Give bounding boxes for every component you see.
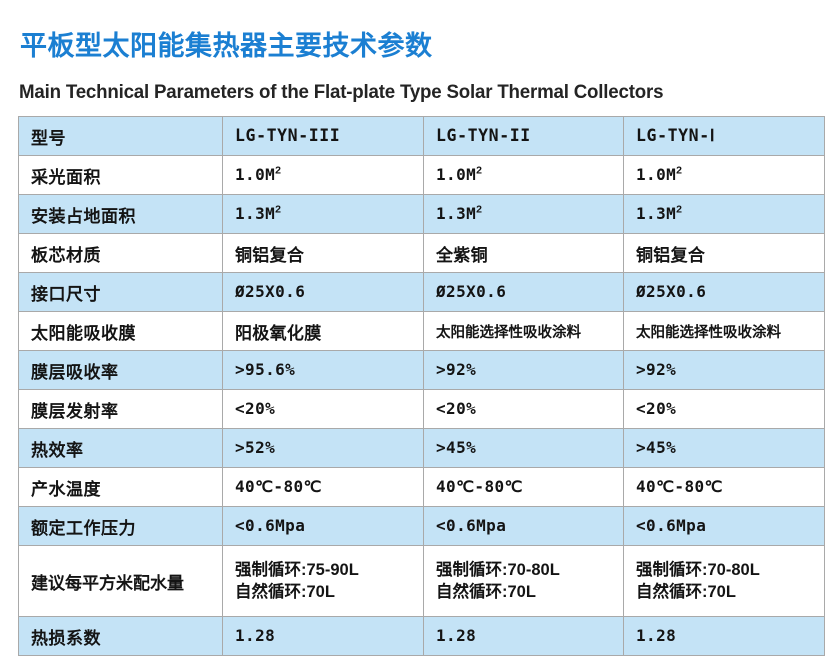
table-row: 产水温度40℃-80℃40℃-80℃40℃-80℃ (19, 468, 825, 507)
cell-value: >92% (424, 351, 624, 390)
row-label: 板芯材质 (19, 234, 223, 273)
value-text: 1.28 (235, 626, 275, 645)
table-row: 采光面积1.0M21.0M21.0M2 (19, 156, 825, 195)
row-label: 太阳能吸收膜 (19, 312, 223, 351)
page-title-cn: 平板型太阳能集热器主要技术参数 (20, 30, 433, 62)
page-root: 平板型太阳能集热器主要技术参数 Main Technical Parameter… (0, 0, 832, 652)
value-text: >45% (636, 438, 676, 457)
cell-value: 阳极氧化膜 (223, 312, 424, 351)
table-row: 板芯材质铜铝复合全紫铜铜铝复合 (19, 234, 825, 273)
cell-value: 40℃-80℃ (624, 468, 825, 507)
cell-value: Ø25X0.6 (424, 273, 624, 312)
value-text: 40℃-80℃ (636, 477, 723, 496)
row-label: 安装占地面积 (19, 195, 223, 234)
superscript-square: 2 (476, 164, 482, 176)
value-text: Ø25X0.6 (235, 282, 305, 301)
spec-table: 型号LG-TYN-IIILG-TYN-IILG-TYN-Ⅰ采光面积1.0M21.… (18, 116, 825, 656)
cell-value: 1.0M2 (223, 156, 424, 195)
row-label: 型号 (19, 117, 223, 156)
cell-line: 自然循环:70L (636, 581, 824, 603)
cell-value: LG-TYN-III (223, 117, 424, 156)
cell-base: 1.0M (636, 165, 676, 184)
cell-value: 1.0M2 (624, 156, 825, 195)
value-text: <0.6Mpa (436, 516, 506, 535)
cell-value: >52% (223, 429, 424, 468)
cell-value: 40℃-80℃ (223, 468, 424, 507)
cell-value: 强制循环:75-90L自然循环:70L (223, 546, 424, 617)
cell-line: 强制循环:70-80L (636, 559, 824, 581)
cell-value: <0.6Mpa (624, 507, 825, 546)
superscript-square: 2 (275, 203, 281, 215)
value-text: 40℃-80℃ (436, 477, 523, 496)
cell-value: >92% (624, 351, 825, 390)
cell-value: >95.6% (223, 351, 424, 390)
cell-value: <0.6Mpa (424, 507, 624, 546)
value-text: Ø25X0.6 (636, 282, 706, 301)
model-code: LG-TYN-II (436, 126, 531, 145)
cell-base: 1.3M (235, 204, 275, 223)
cell-value: >45% (424, 429, 624, 468)
model-code: LG-TYN-Ⅰ (636, 126, 715, 145)
cell-value: LG-TYN-II (424, 117, 624, 156)
spec-table-container: 型号LG-TYN-IIILG-TYN-IILG-TYN-Ⅰ采光面积1.0M21.… (18, 116, 824, 656)
row-label: 膜层吸收率 (19, 351, 223, 390)
cell-value: 全紫铜 (424, 234, 624, 273)
superscript-square: 2 (676, 164, 682, 176)
row-label: 采光面积 (19, 156, 223, 195)
cell-value: Ø25X0.6 (223, 273, 424, 312)
cell-value: 铜铝复合 (223, 234, 424, 273)
cell-value: 1.3M2 (223, 195, 424, 234)
cell-value: 太阳能选择性吸收涂料 (424, 312, 624, 351)
superscript-square: 2 (476, 203, 482, 215)
cell-value: <20% (624, 390, 825, 429)
row-label: 热效率 (19, 429, 223, 468)
value-text: Ø25X0.6 (436, 282, 506, 301)
value-text: >45% (436, 438, 476, 457)
cell-value: 1.28 (624, 617, 825, 656)
cell-value: <20% (223, 390, 424, 429)
cell-value: 1.28 (424, 617, 624, 656)
value-text: >52% (235, 438, 275, 457)
cell-value: <20% (424, 390, 624, 429)
table-row: 膜层发射率<20%<20%<20% (19, 390, 825, 429)
value-text: 1.28 (436, 626, 476, 645)
cell-base: 1.0M (436, 165, 476, 184)
cell-value: 1.3M2 (424, 195, 624, 234)
table-row: 热效率>52%>45%>45% (19, 429, 825, 468)
cell-value: 铜铝复合 (624, 234, 825, 273)
cell-value: >45% (624, 429, 825, 468)
cell-value: 40℃-80℃ (424, 468, 624, 507)
table-row: 膜层吸收率>95.6%>92%>92% (19, 351, 825, 390)
value-text: <0.6Mpa (636, 516, 706, 535)
table-row: 型号LG-TYN-IIILG-TYN-IILG-TYN-Ⅰ (19, 117, 825, 156)
row-label: 接口尺寸 (19, 273, 223, 312)
value-text: <0.6Mpa (235, 516, 305, 535)
cell-base: 1.0M (235, 165, 275, 184)
value-text: <20% (235, 399, 275, 418)
value-text: >92% (436, 360, 476, 379)
cell-value: 太阳能选择性吸收涂料 (624, 312, 825, 351)
cell-value: 强制循环:70-80L自然循环:70L (424, 546, 624, 617)
superscript-square: 2 (676, 203, 682, 215)
page-subtitle-en: Main Technical Parameters of the Flat-pl… (19, 82, 663, 105)
table-row: 接口尺寸Ø25X0.6Ø25X0.6Ø25X0.6 (19, 273, 825, 312)
cell-value: Ø25X0.6 (624, 273, 825, 312)
value-text: 1.28 (636, 626, 676, 645)
table-row: 太阳能吸收膜阳极氧化膜太阳能选择性吸收涂料太阳能选择性吸收涂料 (19, 312, 825, 351)
cell-value: 1.0M2 (424, 156, 624, 195)
cell-line: 自然循环:70L (235, 581, 423, 603)
cell-value: 强制循环:70-80L自然循环:70L (624, 546, 825, 617)
table-row: 建议每平方米配水量强制循环:75-90L自然循环:70L强制循环:70-80L自… (19, 546, 825, 617)
model-code: LG-TYN-III (235, 126, 340, 145)
cell-value: 1.28 (223, 617, 424, 656)
cell-value: LG-TYN-Ⅰ (624, 117, 825, 156)
cell-line: 强制循环:75-90L (235, 559, 423, 581)
row-label: 建议每平方米配水量 (19, 546, 223, 617)
value-text: >92% (636, 360, 676, 379)
spec-table-body: 型号LG-TYN-IIILG-TYN-IILG-TYN-Ⅰ采光面积1.0M21.… (19, 117, 825, 656)
row-label: 额定工作压力 (19, 507, 223, 546)
table-row: 热损系数1.281.281.28 (19, 617, 825, 656)
cell-base: 1.3M (436, 204, 476, 223)
value-text: 40℃-80℃ (235, 477, 322, 496)
row-label: 热损系数 (19, 617, 223, 656)
superscript-square: 2 (275, 164, 281, 176)
cell-base: 1.3M (636, 204, 676, 223)
cell-value: 1.3M2 (624, 195, 825, 234)
table-row: 安装占地面积1.3M21.3M21.3M2 (19, 195, 825, 234)
cell-line: 强制循环:70-80L (436, 559, 623, 581)
table-row: 额定工作压力<0.6Mpa<0.6Mpa<0.6Mpa (19, 507, 825, 546)
cell-line: 自然循环:70L (436, 581, 623, 603)
value-text: <20% (636, 399, 676, 418)
value-text: >95.6% (235, 360, 295, 379)
row-label: 膜层发射率 (19, 390, 223, 429)
row-label: 产水温度 (19, 468, 223, 507)
value-text: <20% (436, 399, 476, 418)
cell-value: <0.6Mpa (223, 507, 424, 546)
